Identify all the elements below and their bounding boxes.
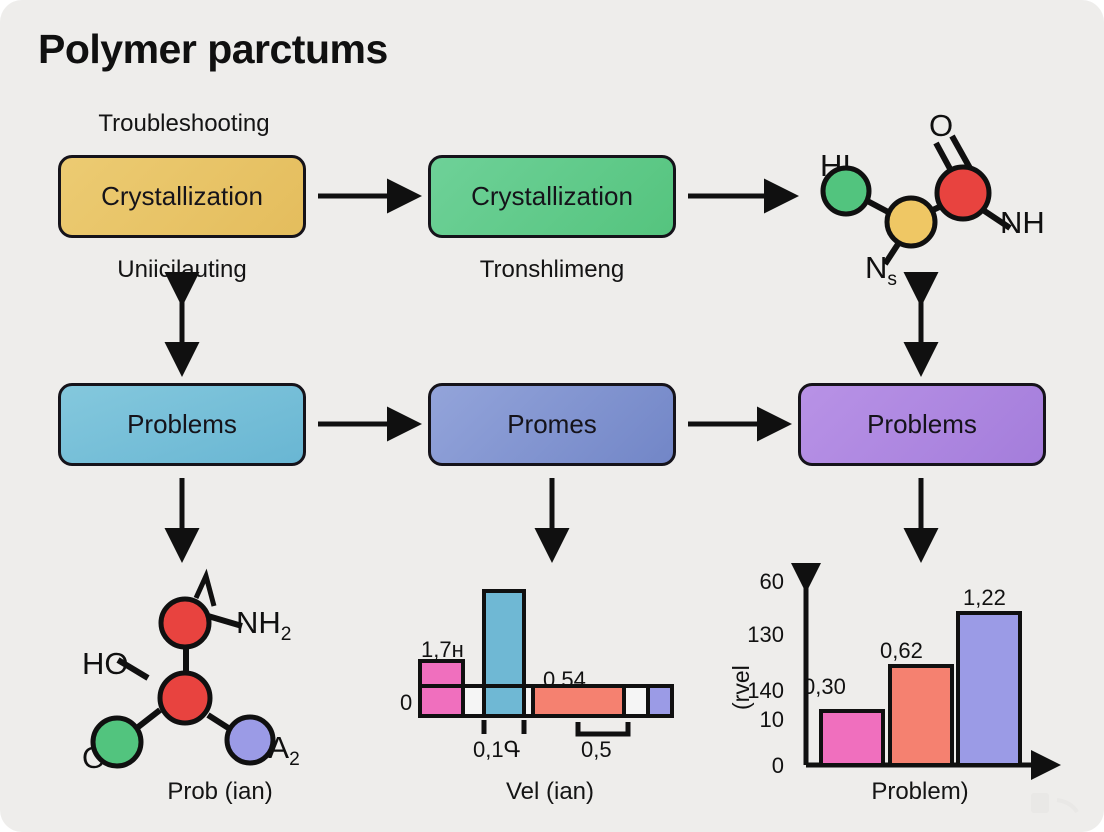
molecule-label-ho: HO	[82, 646, 129, 682]
atom-red-top	[161, 599, 209, 647]
vel-bracket	[578, 722, 628, 734]
box-problems-purple[interactable]: Problems	[798, 383, 1046, 466]
vel-bar-label-0: 1,7н	[421, 637, 464, 663]
box-label: Promes	[507, 409, 597, 440]
vel-seg-pink	[420, 686, 463, 716]
problem-bar-label-0: 0,30	[803, 674, 846, 700]
vel-bar-pink	[420, 661, 463, 706]
atom-red-center	[160, 673, 210, 723]
vel-bar-label-1: 0,54	[543, 667, 586, 693]
vel-chart-xlabel: Vel (ian)	[400, 778, 700, 806]
box-label: Problems	[867, 409, 977, 440]
vel-origin-label: 0	[400, 690, 412, 716]
vel-seg-blue	[504, 686, 524, 716]
atom-red-carbonyl	[937, 167, 989, 219]
molecule-label-hi2: HI2	[820, 148, 862, 189]
vel-seg-white-3	[628, 686, 646, 716]
box-crystallization-green[interactable]: Crystallization	[428, 155, 676, 238]
box-crystallization-yellow[interactable]: Crystallization	[58, 155, 306, 238]
molecule-label-na2: NA2	[246, 730, 300, 771]
vel-bar-blue	[484, 591, 524, 706]
problem-bar-0	[821, 711, 883, 765]
molecule-label-o2: O	[82, 740, 106, 776]
box-label: Problems	[127, 409, 237, 440]
box-label: Crystallization	[101, 181, 263, 212]
problem-chart-xlabel: Problem)	[790, 778, 1050, 806]
molecule-caption-prob: Prob (ian)	[60, 778, 380, 806]
problem-chart-ylabel: (rvel	[728, 665, 755, 710]
problem-ytick-3: 10	[742, 707, 784, 733]
caption-uniicilauting: Uniicilauting	[58, 256, 306, 284]
molecule-label-nh2: NH2	[236, 605, 291, 646]
page-title: Polymer parctums	[38, 26, 388, 73]
problem-bar-1	[890, 666, 952, 765]
molecule-label-o: O	[929, 108, 953, 144]
problem-bar-2	[958, 613, 1020, 765]
problem-ytick-0: 60	[742, 569, 784, 595]
problem-bar-label-2: 1,22	[963, 585, 1006, 611]
molecule-label-nh: NH	[1000, 205, 1045, 241]
vel-tick-label-1: 0,5	[581, 737, 612, 763]
box-label: Crystallization	[471, 181, 633, 212]
molecule-label-ns: Ns	[865, 250, 897, 291]
diagram-canvas: Polymer parctums Troubleshooting Crystal…	[0, 0, 1104, 832]
problem-ytick-1: 130	[730, 622, 784, 648]
problem-ytick-4: 0	[742, 753, 784, 779]
vel-seg-white-1	[463, 686, 504, 716]
caption-tronshlimeng: Tronshlimeng	[428, 256, 676, 284]
box-problems-blue[interactable]: Problems	[58, 383, 306, 466]
caption-troubleshooting: Troubleshooting	[83, 110, 285, 138]
atom-yellow-ns	[887, 198, 935, 246]
problem-bar-label-1: 0,62	[880, 638, 923, 664]
vel-seg-periwinkle	[648, 686, 672, 716]
box-promes-slate[interactable]: Promes	[428, 383, 676, 466]
vel-tick-label-0: 0,1Գ	[473, 737, 520, 763]
